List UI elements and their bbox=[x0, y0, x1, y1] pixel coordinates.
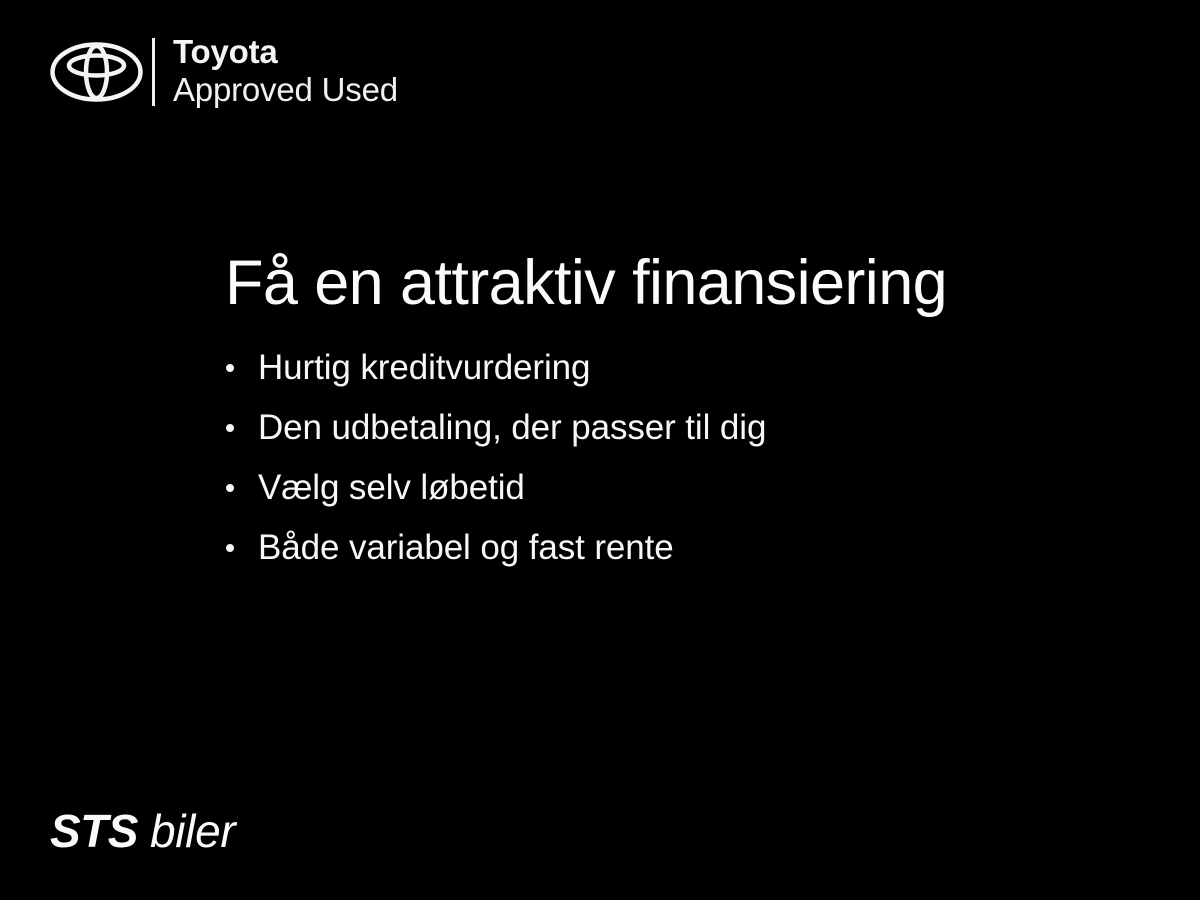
list-item-label: Hurtig kreditvurdering bbox=[258, 350, 590, 385]
brand-divider bbox=[152, 38, 155, 106]
sts-logo-word: biler bbox=[150, 808, 235, 854]
headline: Få en attraktiv finansiering bbox=[225, 252, 1125, 315]
list-item-label: Vælg selv løbetid bbox=[258, 470, 525, 505]
sts-biler-logo: STS biler bbox=[50, 808, 235, 854]
toyota-approved-used-lockup: Toyota Approved Used bbox=[50, 36, 398, 108]
toyota-emblem-icon bbox=[50, 42, 143, 102]
brand-wordmark: Toyota Approved Used bbox=[173, 35, 398, 109]
benefit-list: Hurtig kreditvurdering Den udbetaling, d… bbox=[225, 337, 1125, 577]
bullet-dot-icon bbox=[226, 544, 234, 552]
bullet-dot-icon bbox=[226, 424, 234, 432]
brand-name: Toyota bbox=[173, 35, 398, 69]
list-item: Vælg selv løbetid bbox=[225, 457, 1125, 517]
list-item: Den udbetaling, der passer til dig bbox=[225, 397, 1125, 457]
brand-program: Approved Used bbox=[173, 71, 398, 109]
sts-logo-mark: STS bbox=[50, 808, 138, 854]
list-item: Hurtig kreditvurdering bbox=[225, 337, 1125, 397]
finance-promo-slide: Toyota Approved Used Få en attraktiv fin… bbox=[0, 0, 1200, 900]
bullet-dot-icon bbox=[226, 364, 234, 372]
bullet-dot-icon bbox=[226, 484, 234, 492]
list-item-label: Den udbetaling, der passer til dig bbox=[258, 410, 766, 445]
copy-block: Få en attraktiv finansiering Hurtig kred… bbox=[225, 252, 1125, 577]
list-item-label: Både variabel og fast rente bbox=[258, 530, 674, 565]
list-item: Både variabel og fast rente bbox=[225, 517, 1125, 577]
